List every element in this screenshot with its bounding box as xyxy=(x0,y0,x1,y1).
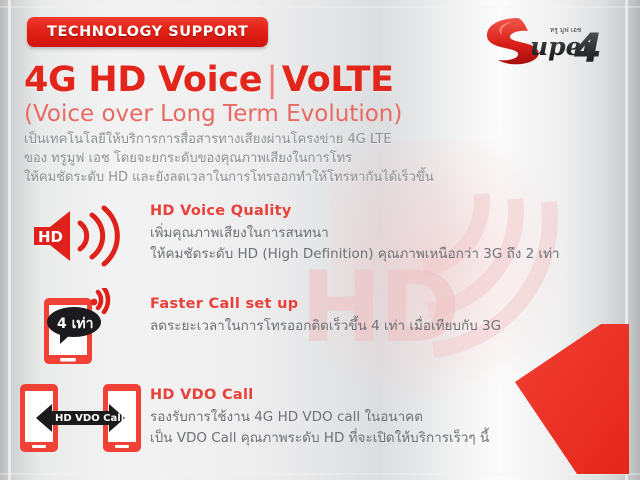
frame-left xyxy=(8,0,11,480)
feature-heading: HD VDO Call xyxy=(150,387,489,403)
hd-speaker-icon-label: HD xyxy=(38,228,63,246)
technology-support-badge: TECHNOLOGY SUPPORT xyxy=(27,17,268,47)
feature-hd-vdo-call: HD VDO Call รองรับการใช้งาน 4G HD VDO ca… xyxy=(150,387,489,449)
title-left: 4G HD Voice xyxy=(24,60,262,100)
title-divider: | xyxy=(262,60,282,100)
frame-top xyxy=(0,6,640,8)
feature-line-2: เป็น VDO Call คุณภาพระดับ HD ที่จะเปิดให… xyxy=(150,428,489,449)
logo-numeral: 4 xyxy=(573,26,602,70)
feature-line-1: ลดระยะเวลาในการโทรออกติดเร็วขึ้น 4 เท่า … xyxy=(150,316,501,337)
hd-speaker-icon: HD xyxy=(30,205,136,267)
two-phones-arrow-icon-label: HD VDO Call xyxy=(55,413,124,424)
watermark-wave-1 xyxy=(310,97,521,308)
intro-paragraph: เป็นเทคโนโลยีให้บริการการสื่อสารทางเสียง… xyxy=(24,130,434,187)
super4-logo: ทรู มูฟ เอช uper 4 xyxy=(482,12,612,70)
intro-line-1: เป็นเทคโนโลยีให้บริการการสื่อสารทางเสียง… xyxy=(24,130,434,149)
phone-signal-icon: 4 เท่า xyxy=(38,288,128,366)
feature-line-2: ให้คมชัดระดับ HD (High Definition) คุณภา… xyxy=(150,244,560,265)
badge-label: TECHNOLOGY SUPPORT xyxy=(47,24,248,40)
intro-line-2: ของ ทรูมูฟ เอช โดยจะยกระดับของคุณภาพเสีย… xyxy=(24,149,434,168)
feature-line-1: รองรับการใช้งาน 4G HD VDO call ในอนาคต xyxy=(150,407,489,428)
feature-faster-call-set-up: Faster Call set up ลดระยะเวลาในการโทรออก… xyxy=(150,296,501,337)
infographic-poster: HD TECHNOLOGY SUPPORT xyxy=(0,0,640,480)
page-subtitle: (Voice over Long Term Evolution) xyxy=(24,101,402,127)
feature-hd-voice-quality: HD Voice Quality เพิ่มคุณภาพเสียงในการสน… xyxy=(150,203,560,265)
intro-line-3: ให้คมชัดระดับ HD และยังลดเวลาในการโทรออก… xyxy=(24,168,434,187)
feature-heading: HD Voice Quality xyxy=(150,203,560,219)
title-right: VoLTE xyxy=(282,60,394,100)
phone-signal-icon-label: 4 เท่า xyxy=(57,316,94,332)
page-title: 4G HD Voice|VoLTE xyxy=(24,60,394,100)
two-phones-arrow-icon: HD VDO Call xyxy=(18,382,143,454)
feature-line-1: เพิ่มคุณภาพเสียงในการสนทนา xyxy=(150,223,560,244)
super4-logo-art: ทรู มูฟ เอช uper 4 xyxy=(482,12,612,70)
feature-heading: Faster Call set up xyxy=(150,296,501,312)
